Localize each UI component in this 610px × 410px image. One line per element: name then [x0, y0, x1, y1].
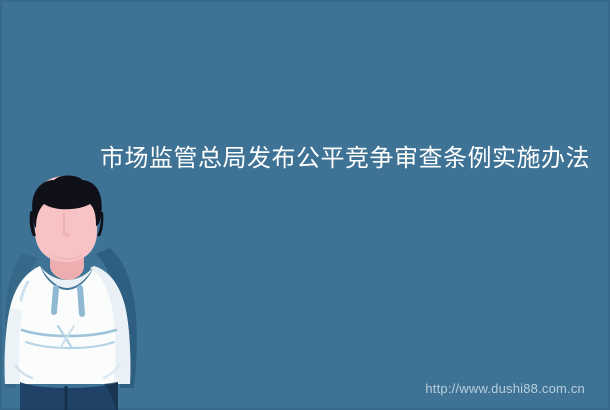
news-poster: 市场监管总局发布公平竞争审查条例实施办法 http://www.dushi88.… — [0, 0, 610, 410]
person-illustration — [0, 170, 150, 410]
pants — [20, 382, 118, 410]
hoodie — [5, 266, 131, 384]
site-watermark: http://www.dushi88.com.cn — [425, 381, 585, 396]
headline-text: 市场监管总局发布公平竞争审查条例实施办法 — [100, 140, 592, 178]
person-illustration-svg — [0, 170, 150, 410]
